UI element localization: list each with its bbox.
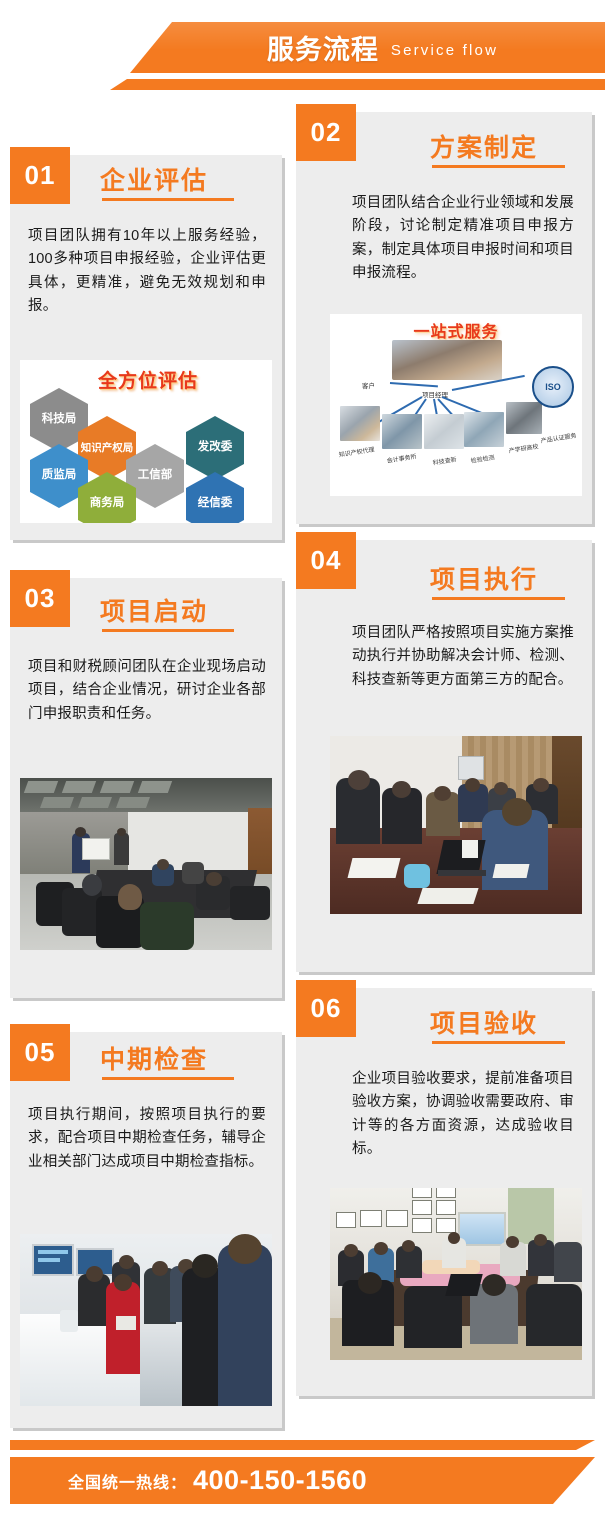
- title-underline: [102, 629, 234, 632]
- step-number-badge: 04: [296, 532, 356, 589]
- title-underline: [432, 597, 565, 600]
- hexagon-diagram-title: 全方位评估: [98, 366, 198, 393]
- step-number-badge: 02: [296, 104, 356, 161]
- step-title: 企业评估: [100, 161, 208, 197]
- label-university: 产学研高校: [508, 441, 539, 455]
- footer-accent-stripe: [10, 1440, 595, 1450]
- meeting-photo-thumb: [392, 340, 502, 380]
- iso-seal-icon: ISO: [532, 366, 574, 408]
- step-title: 项目执行: [430, 560, 538, 596]
- title-underline: [102, 1077, 234, 1080]
- step-description: 企业项目验收要求，提前准备项目验收方案，协调验收需要政府、审计等的各方面资源，达…: [352, 1068, 574, 1162]
- step-description: 项目团队结合企业行业领域和发展阶段，讨论制定精准项目申报方案，制定具体项目申报时…: [352, 192, 574, 286]
- photo-conference-room: [20, 778, 272, 950]
- step-title: 项目验收: [430, 1004, 538, 1040]
- header-accent-stripe: [110, 79, 605, 90]
- step-number-badge: 05: [10, 1024, 70, 1081]
- step-card-01[interactable]: 01 企业评估 项目团队拥有10年以上服务经验，100多种项目申报经验，企业评估…: [10, 155, 282, 540]
- step-title: 中期检查: [100, 1040, 208, 1076]
- photo-meeting-laptops: [330, 736, 582, 914]
- hexagon-diagram: 全方位评估 科技局 知识产权局 质监局 工信部 商务局 发改委 经信委: [20, 360, 272, 523]
- step-number-badge: 01: [10, 147, 70, 204]
- step-card-02[interactable]: 02 方案制定 项目团队结合企业行业领域和发展阶段，讨论制定精准项目申报方案，制…: [296, 112, 592, 524]
- step-title: 项目启动: [100, 592, 208, 628]
- hotline-number[interactable]: 400-150-1560: [193, 1465, 367, 1496]
- step-card-05[interactable]: 05 中期检查 项目执行期间，按照项目执行的要求，配合项目中期检查任务，辅导企业…: [10, 1032, 282, 1428]
- step-number-badge: 06: [296, 980, 356, 1037]
- label-certification: 产品认证服务: [540, 430, 577, 445]
- step-card-04[interactable]: 04 项目执行 项目团队严格按照项目实施方案推动执行并协助解决会计师、检测、科技…: [296, 540, 592, 972]
- arrow-to-customer: [390, 382, 438, 387]
- step-card-06[interactable]: 06 项目验收 企业项目验收要求，提前准备项目验收方案，协调验收需要政府、审计等…: [296, 988, 592, 1396]
- hex-node-fagaiwei: 发改委: [186, 416, 244, 480]
- page-header: 服务流程 Service flow: [0, 0, 605, 110]
- thumb-university: [506, 402, 542, 434]
- label-ip-agency: 知识产权代理: [338, 444, 375, 459]
- step-description: 项目执行期间，按照项目执行的要求，配合项目中期检查任务，辅导企业相关部门达成项目…: [28, 1104, 266, 1174]
- photo-showroom-visit: [20, 1234, 272, 1406]
- title-underline: [102, 198, 234, 201]
- thumb-inspection: [464, 412, 504, 447]
- label-customer: 客户: [362, 380, 375, 390]
- label-accounting: 会计事务所: [386, 451, 417, 465]
- header-title-group: 服务流程 Service flow: [130, 22, 605, 73]
- step-card-03[interactable]: 03 项目启动 项目和财税顾问团队在企业现场启动项目，结合企业情况，研讨企业各部…: [10, 578, 282, 998]
- label-inspection: 检验检测: [470, 452, 495, 465]
- footer-contact-group: 全国统一热线： 400-150-1560: [10, 1457, 595, 1504]
- title-underline: [432, 165, 565, 168]
- step-description: 项目和财税顾问团队在企业现场启动项目，结合企业情况，研讨企业各部门申报职责和任务…: [28, 656, 266, 726]
- page-title: 服务流程: [267, 28, 379, 67]
- thumb-ip-agency: [340, 406, 380, 441]
- page-footer: 全国统一热线： 400-150-1560: [0, 1418, 605, 1538]
- hotline-label: 全国统一热线：: [68, 1469, 187, 1493]
- step-title: 方案制定: [430, 128, 538, 164]
- title-underline: [432, 1041, 565, 1044]
- thumb-sci-search: [424, 414, 464, 449]
- label-sci-search: 科技查新: [432, 454, 457, 467]
- step-number-badge: 03: [10, 570, 70, 627]
- one-stop-service-title: 一站式服务: [413, 318, 498, 342]
- step-description: 项目团队拥有10年以上服务经验，100多种项目申报经验，企业评估更具体，更精准，…: [28, 225, 266, 319]
- step-description: 项目团队严格按照项目实施方案推动执行并协助解决会计师、检测、科技查新等更方面第三…: [352, 622, 574, 692]
- thumb-accounting: [382, 414, 422, 449]
- hex-node-jingxinwei: 经信委: [186, 472, 244, 523]
- photo-boardroom-certificates: [330, 1188, 582, 1360]
- page-subtitle: Service flow: [391, 42, 498, 59]
- one-stop-service-diagram: 一站式服务 客户 项目经理 ISO 知识产权代理 会计事务所 科技查新 检验检测…: [330, 314, 582, 496]
